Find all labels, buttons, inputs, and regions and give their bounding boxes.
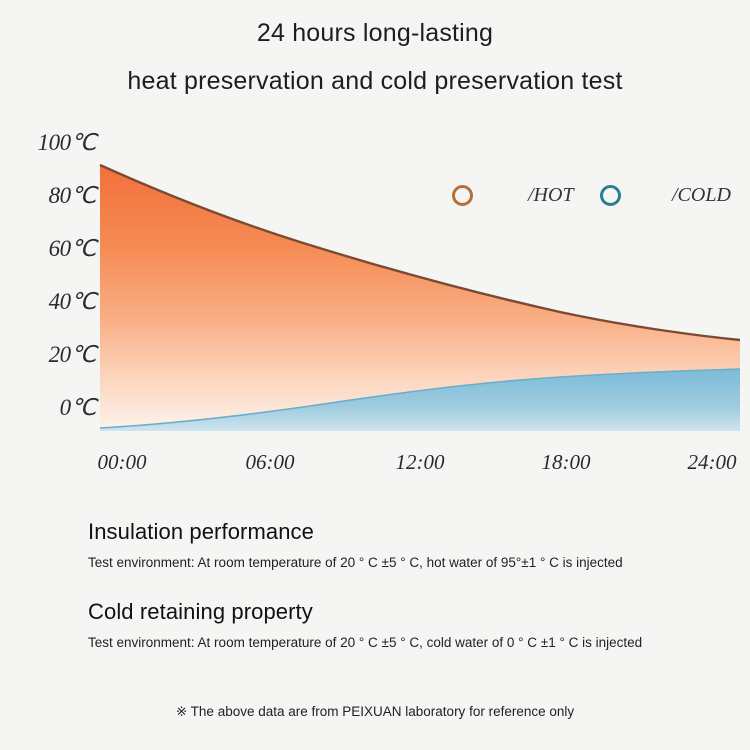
x-axis: 00:00 06:00 12:00 18:00 24:00: [0, 450, 750, 490]
legend-label-cold-wrap: /COLD: [672, 172, 731, 218]
title-block: 24 hours long-lasting heat preservation …: [0, 16, 750, 98]
legend-item-cold[interactable]: [600, 172, 621, 218]
section-cold-retaining: Cold retaining property Test environment…: [88, 598, 728, 652]
y-tick-100: 100℃: [4, 130, 96, 156]
x-tick-1200: 12:00: [396, 450, 445, 475]
x-tick-0600: 06:00: [246, 450, 295, 475]
y-tick-80: 80℃: [4, 183, 96, 209]
section-insulation-desc: Test environment: At room temperature of…: [88, 554, 728, 572]
section-cold-retaining-title: Cold retaining property: [88, 598, 728, 626]
footnote: ※ The above data are from PEIXUAN labora…: [0, 704, 750, 720]
page-title-line2: heat preservation and cold preservation …: [0, 64, 750, 98]
legend-label-hot: /HOT: [528, 184, 574, 207]
y-axis: 100℃ 80℃ 60℃ 40℃ 20℃ 0℃: [0, 140, 96, 450]
legend-item-hot[interactable]: [452, 172, 473, 218]
y-tick-20: 20℃: [4, 342, 96, 368]
infographic-page: 24 hours long-lasting heat preservation …: [0, 0, 750, 750]
chart-legend: /HOT /COLD: [440, 172, 750, 218]
x-tick-1800: 18:00: [542, 450, 591, 475]
circle-ring-icon-cold: [600, 185, 621, 206]
y-tick-60: 60℃: [4, 236, 96, 262]
x-tick-0000: 00:00: [98, 450, 147, 475]
legend-label-cold: /COLD: [672, 184, 731, 207]
y-tick-0: 0℃: [4, 395, 96, 421]
page-title-line1: 24 hours long-lasting: [0, 16, 750, 50]
legend-label-hot-wrap: /HOT: [528, 172, 574, 218]
y-tick-40: 40℃: [4, 289, 96, 315]
section-insulation-title: Insulation performance: [88, 518, 728, 546]
section-cold-retaining-desc: Test environment: At room temperature of…: [88, 634, 728, 652]
section-insulation: Insulation performance Test environment:…: [88, 518, 728, 572]
x-tick-2400: 24:00: [688, 450, 737, 475]
circle-ring-icon-hot: [452, 185, 473, 206]
